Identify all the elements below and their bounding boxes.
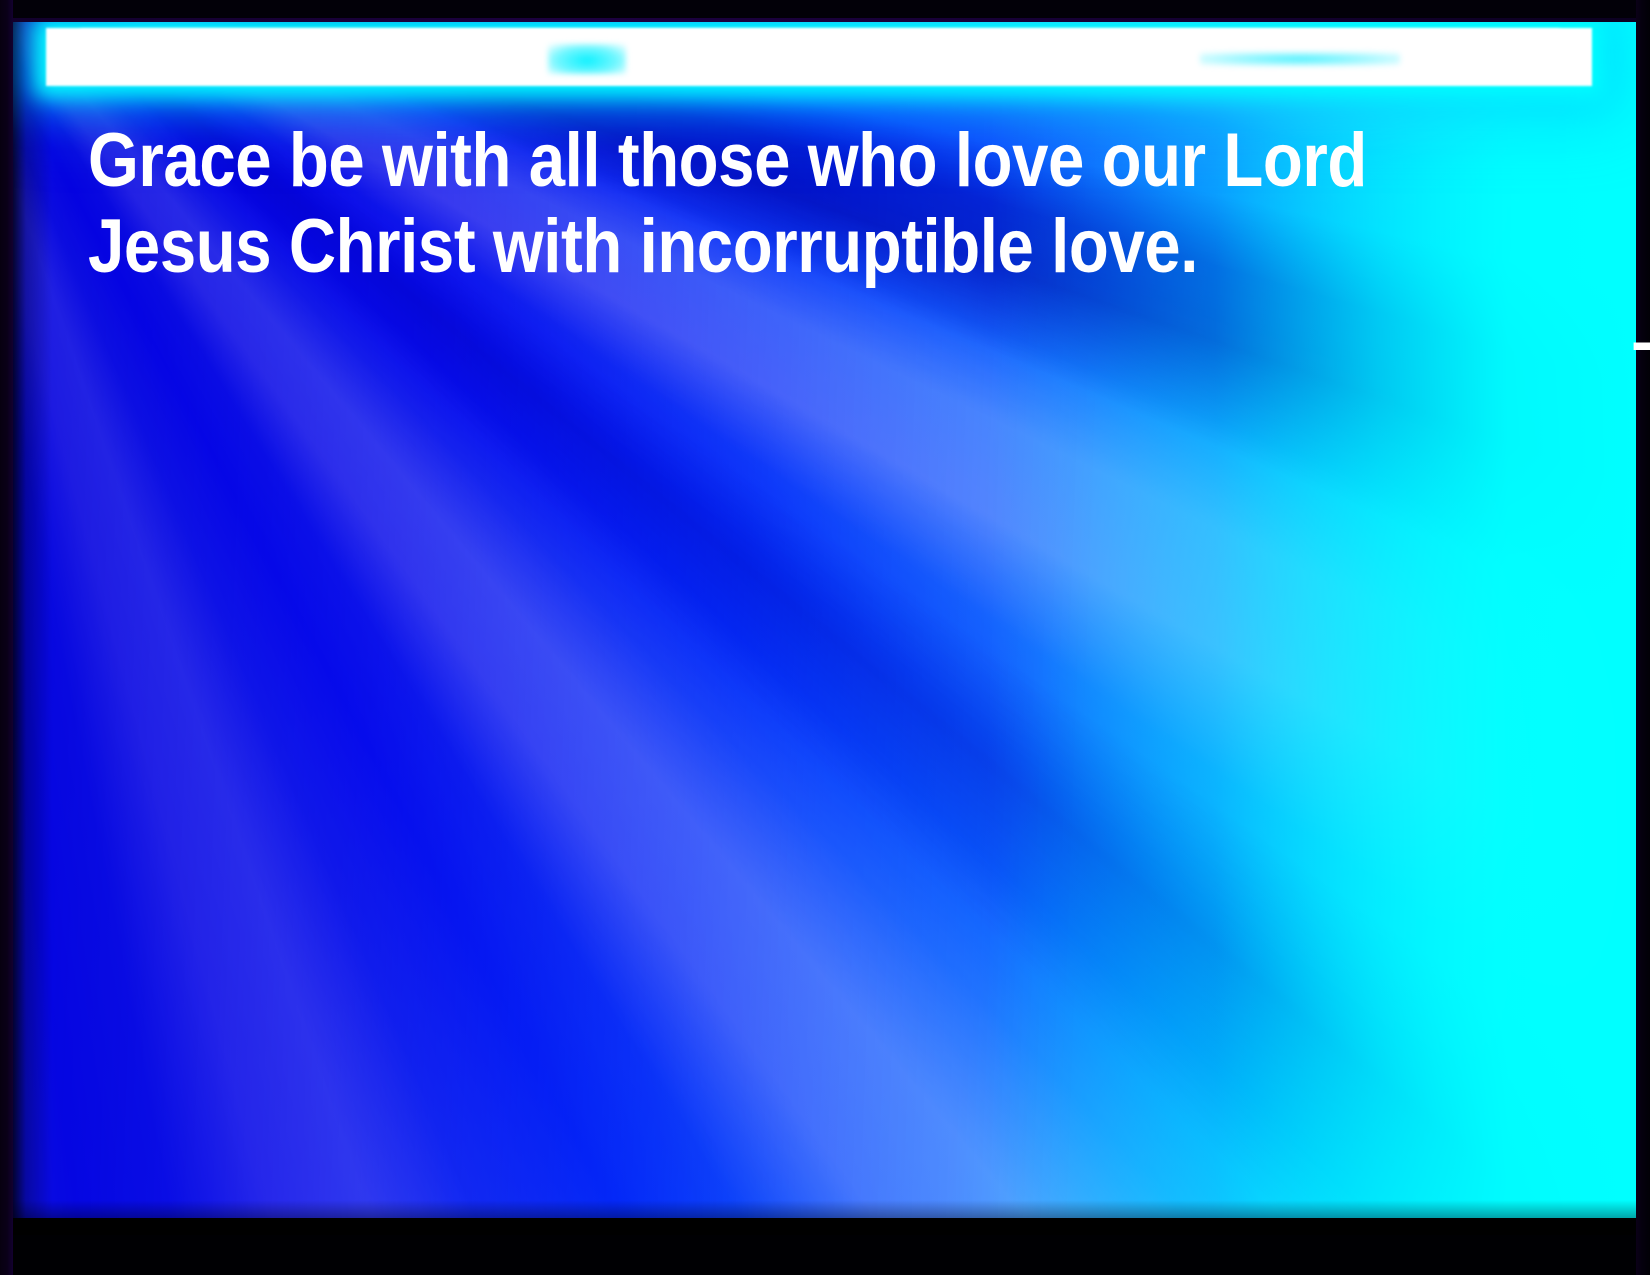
verse-reference: — Ephesians 6:24 (NASB®) <box>1634 290 1650 385</box>
verse-line-2: Jesus Christ with incorruptible love. <box>88 204 1198 290</box>
frame-edge-bottom <box>0 1235 1650 1275</box>
top-glow-band-wisp <box>1200 52 1400 66</box>
frame-edge-left <box>0 0 13 1275</box>
frame-edge-right <box>1636 0 1650 1275</box>
verse-line-1: Grace be with all those who love our Lor… <box>88 118 1367 204</box>
verse-reference-main: — Ephesians 6:24 (NASB <box>1634 299 1650 384</box>
top-glow-band-notch <box>548 44 626 74</box>
verse-slide: Grace be with all those who love our Lor… <box>0 0 1650 1275</box>
frame-accent-line <box>0 18 1650 22</box>
